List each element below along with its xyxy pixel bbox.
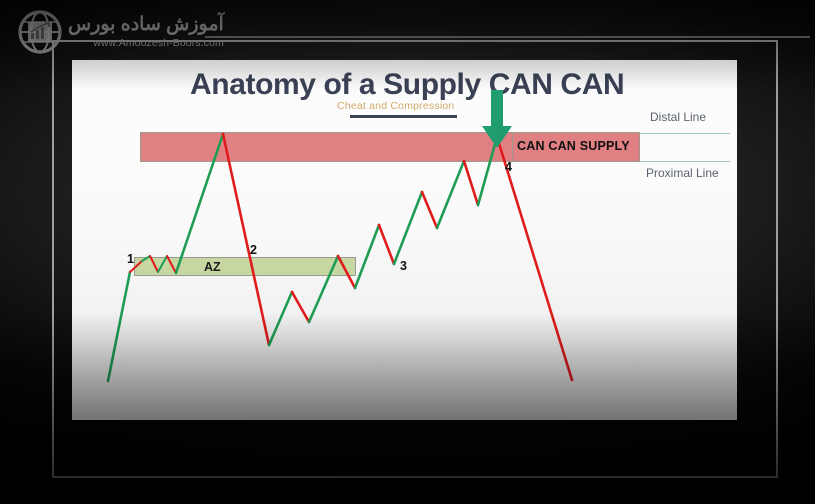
background-vignette bbox=[0, 0, 815, 504]
slide-screenshot: آموزش ساده بورس www.Amoozesh-Boors.com A… bbox=[0, 0, 815, 504]
